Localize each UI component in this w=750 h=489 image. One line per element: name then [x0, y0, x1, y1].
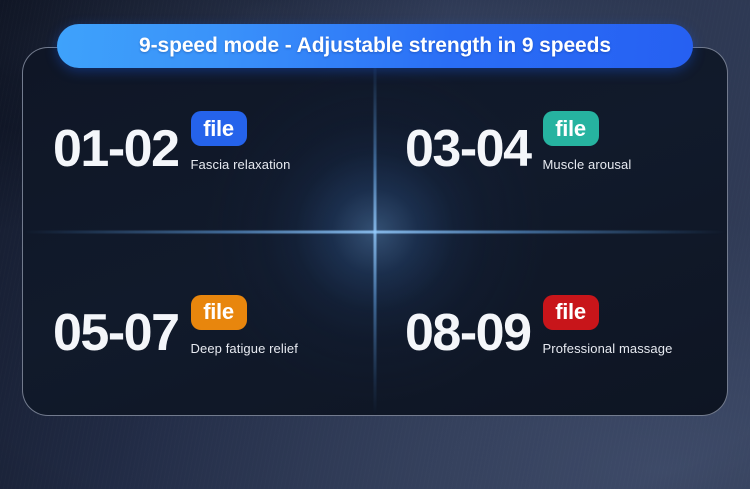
speed-range-number: 01-02 [53, 125, 179, 174]
file-badge-label: file [555, 301, 586, 323]
speed-caption: Deep fatigue relief [191, 341, 298, 356]
speed-caption: Muscle arousal [543, 157, 632, 172]
speed-item-01-02: 01-02 file Fascia relaxation [23, 48, 375, 232]
speed-item-03-04: 03-04 file Muscle arousal [375, 48, 727, 232]
speed-mode-grid: 01-02 file Fascia relaxation 03-04 fil [23, 48, 727, 415]
promo-graphic: 01-02 file Fascia relaxation 03-04 fil [0, 0, 750, 489]
file-badge-label: file [203, 118, 234, 140]
speed-range-number: 08-09 [405, 309, 531, 358]
file-badge: file [543, 111, 599, 146]
title-banner-text: 9-speed mode - Adjustable strength in 9 … [139, 34, 611, 58]
speed-item-05-07: 05-07 file Deep fatigue relief [23, 232, 375, 416]
file-badge-label: file [555, 118, 586, 140]
speed-caption: Fascia relaxation [191, 157, 291, 172]
file-badge: file [191, 295, 247, 330]
title-banner: 9-speed mode - Adjustable strength in 9 … [57, 24, 693, 68]
speed-item-08-09: 08-09 file Professional massage [375, 232, 727, 416]
speed-caption: Professional massage [543, 341, 673, 356]
speed-mode-panel: 01-02 file Fascia relaxation 03-04 fil [22, 47, 728, 416]
speed-range-number: 03-04 [405, 125, 531, 174]
speed-range-number: 05-07 [53, 309, 179, 358]
file-badge: file [191, 111, 247, 146]
file-badge-label: file [203, 301, 234, 323]
file-badge: file [543, 295, 599, 330]
